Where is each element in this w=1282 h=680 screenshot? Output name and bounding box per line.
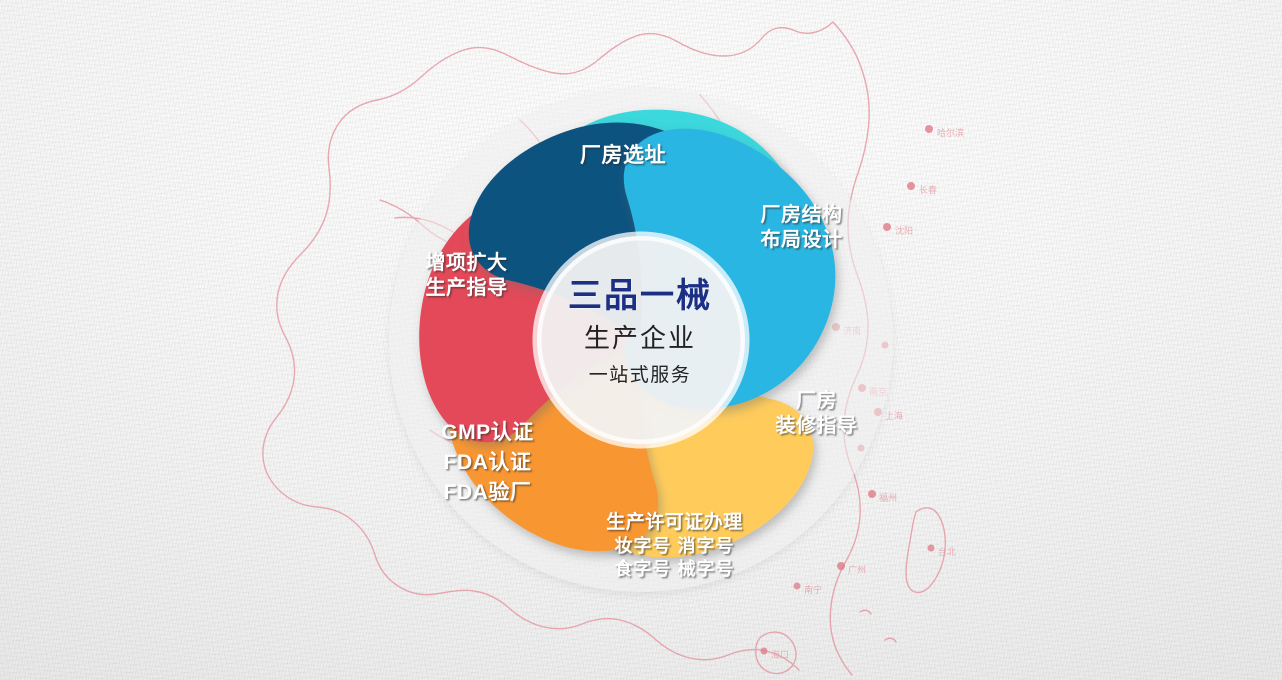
wheel-center-well	[537, 236, 745, 444]
svg-text:哈尔滨: 哈尔滨	[937, 127, 964, 139]
service-wheel-diagram	[341, 40, 941, 640]
svg-text:海口: 海口	[771, 649, 789, 661]
infographic-canvas: 哈尔滨 长春 沈阳 北京 济南 南京 上海 福州 广州 南宁 海口 台北	[0, 0, 1282, 680]
